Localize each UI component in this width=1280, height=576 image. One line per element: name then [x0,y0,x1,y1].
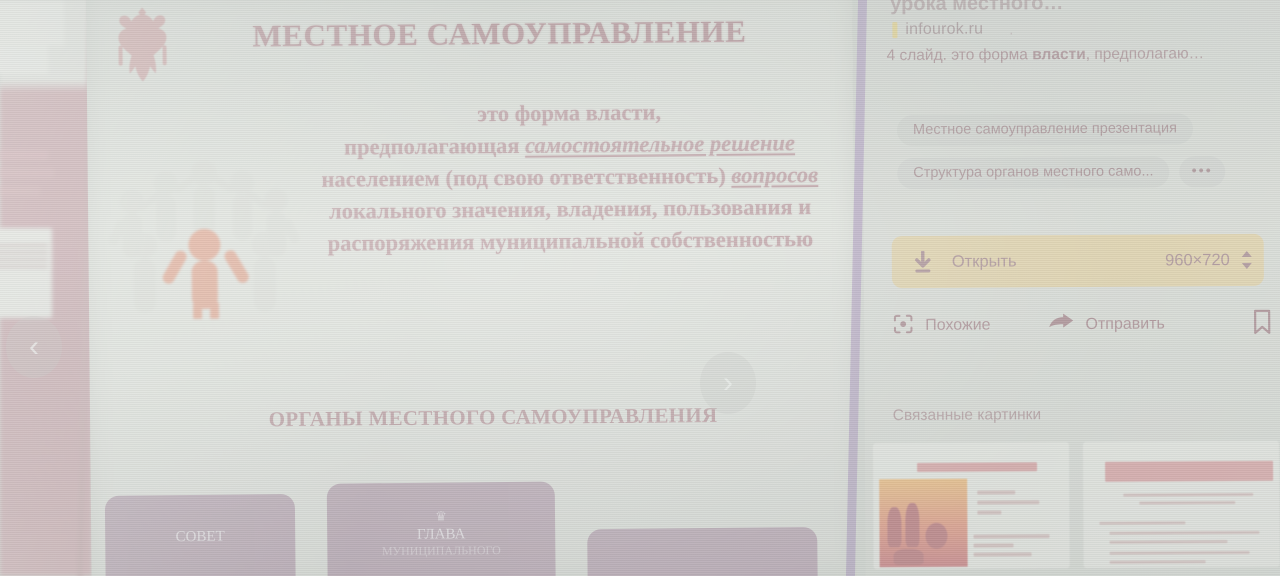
body-prefix: предполагающая [344,133,525,160]
body-suffix: локального значения, владения, пользован… [328,194,814,256]
body-emphasis-2: вопросов [731,162,818,188]
organ-box-council-label: СОВЕТ [176,529,225,545]
people-circle-illustration [97,148,313,320]
slide-body-paragraph: предполагающая самостоятельное решение н… [303,127,836,260]
bg-card-bottom [0,228,52,318]
related-thumbnail-1[interactable] [873,442,1070,569]
source-row[interactable]: infourok.ru . [892,20,1013,39]
similar-images-label: Похожие [925,317,990,335]
slide-body-text: это форма власти, предполагающая самосто… [303,95,837,260]
share-label: Отправить [1085,315,1164,333]
organ-boxes: СОВЕТ ♛ ГЛАВА МУНИЦИПАЛЬНОГО [91,479,858,576]
more-chips-button[interactable]: ••• [1179,156,1224,187]
slide-title: МЕСТНОЕ САМОУПРАВЛЕНИЕ [86,13,852,56]
slide-body-line-1: это форма власти, [303,95,835,132]
query-chip-1[interactable]: Местное самоуправление презентация [897,113,1193,146]
previous-image-button[interactable]: ‹ [6,316,62,378]
bookmark-button[interactable] [1252,308,1272,339]
chevron-right-icon: › [723,368,733,398]
chevron-left-icon: ‹ [29,332,39,362]
download-icon [908,251,938,273]
image-details-panel: урока местного… infourok.ru . 4 слайд. э… [862,0,1280,576]
source-page-title[interactable]: урока местного… [890,0,1274,16]
presentation-slide[interactable]: МЕСТНОЕ САМОУПРАВЛЕНИЕ это форма власти,… [86,0,858,576]
organ-box-head: ♛ ГЛАВА МУНИЦИПАЛЬНОГО [327,482,556,576]
source-separator-dot: . [1009,21,1013,38]
image-description: 4 слайд. это форма власти, предполагаю… [887,45,1280,65]
open-image-button[interactable]: Открыть 960×720 [892,234,1264,288]
crown-icon: ♛ [327,508,555,526]
related-images-heading: Связанные картинки [893,406,1041,425]
share-button[interactable]: Отправить [1048,312,1164,338]
source-domain[interactable]: infourok.ru [905,21,983,39]
bg-tile-3 [0,186,40,196]
description-prefix: 4 слайд. это форма [887,46,1033,64]
related-images-grid [873,441,1280,574]
similar-images-button[interactable]: Похожие [892,312,990,340]
description-suffix: , предполагаю… [1086,45,1204,63]
body-emphasis-1: самостоятельное решение [525,130,795,158]
screen-photo: МЕСТНОЕ САМОУПРАВЛЕНИЕ это форма власти,… [0,0,1280,576]
open-button-label: Открыть [952,252,1017,271]
organ-box-head-sublabel: МУНИЦИПАЛЬНОГО [327,543,555,560]
background-left-strip [0,0,92,576]
action-row: Похожие Отправить [892,303,1272,347]
up-down-chevron-icon[interactable] [1230,249,1264,271]
body-middle: населением (под свою ответственность) [321,163,731,192]
organ-box-third [587,527,818,576]
related-thumbnail-2[interactable] [1083,441,1280,568]
bg-tile-1 [0,150,48,160]
bookmark-icon [1252,308,1272,339]
share-icon [1048,313,1074,338]
similar-icon [892,312,914,339]
bg-tile-2 [0,168,54,178]
related-query-chips: Местное самоуправление презентация Струк… [897,113,1278,201]
next-image-button[interactable]: › [700,352,756,414]
query-chip-2[interactable]: Структура органов местного само... [897,156,1169,189]
bg-card-top2 [0,46,48,74]
site-favicon-icon [892,22,897,38]
description-highlight: власти [1032,46,1086,63]
bg-card-top [0,0,64,46]
image-dimensions: 960×720 [1165,251,1230,270]
thumbnail-photo [879,479,968,568]
organ-box-council: СОВЕТ [105,494,296,576]
organ-box-head-label: ГЛАВА [417,526,466,542]
